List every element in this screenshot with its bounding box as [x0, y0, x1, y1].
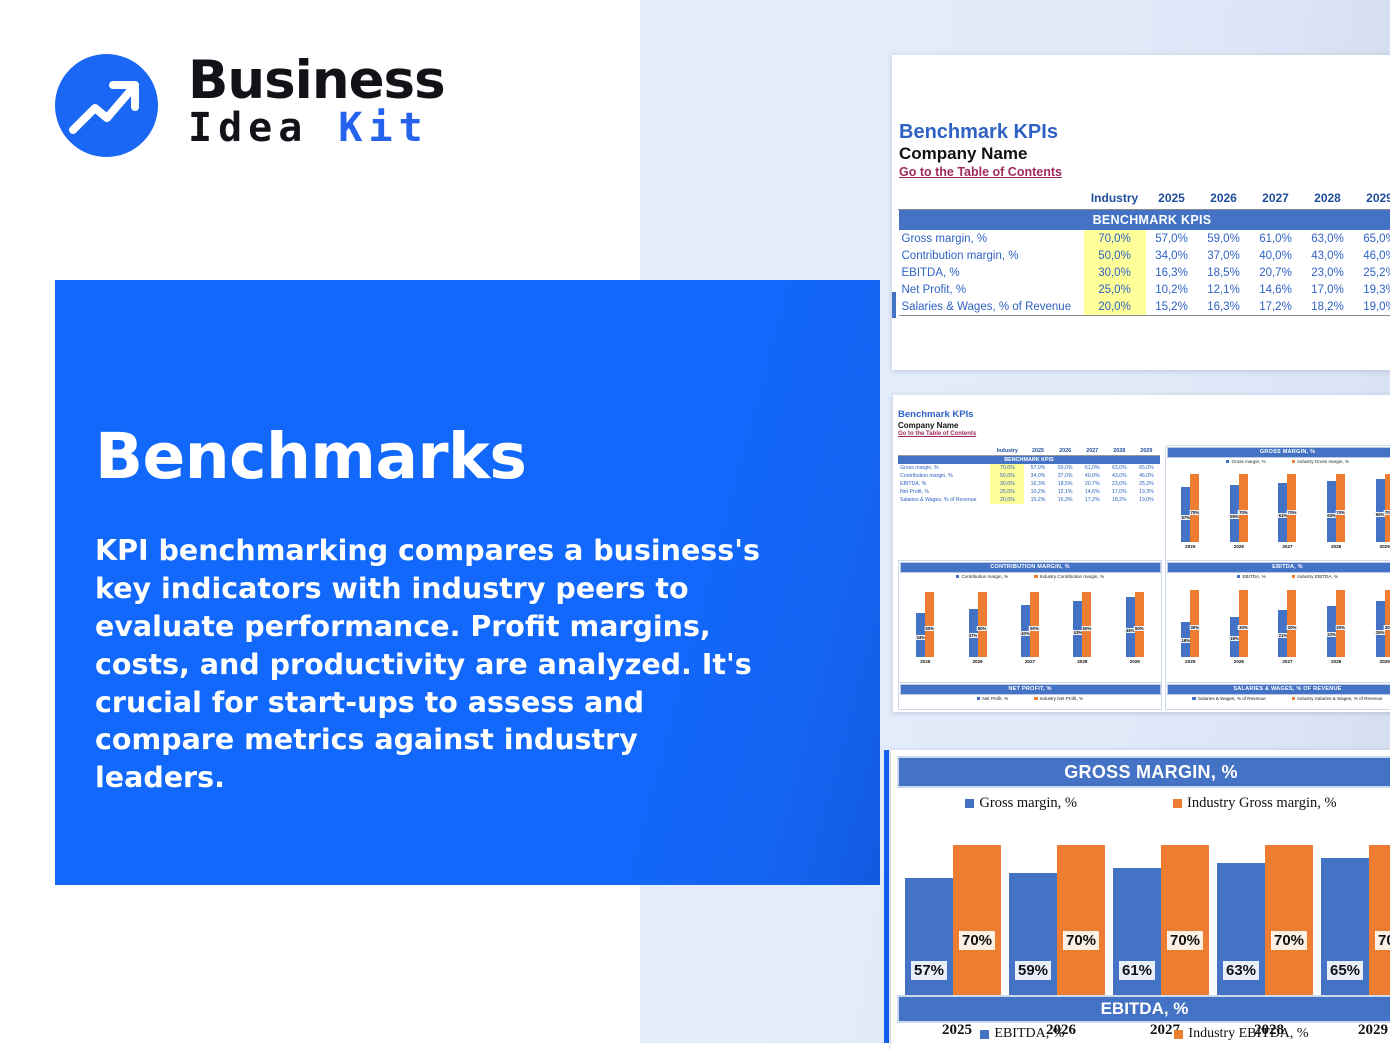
- mini-chart-group: 43%50%: [1073, 579, 1091, 657]
- mini-axis-tick: 2029: [1130, 659, 1140, 664]
- mini-bar-industry: 70%: [1336, 474, 1345, 542]
- kpi-cell-2029: 25,2%: [1133, 480, 1160, 488]
- mini-kpi-col-2026: 2026: [1052, 447, 1079, 456]
- mini-bar-value: 30%: [1335, 625, 1346, 630]
- kpi-cell-2027: 40,0%: [1250, 247, 1302, 264]
- growth-arrow-icon: [55, 54, 158, 157]
- mini-bar-industry: 70%: [1385, 474, 1390, 542]
- bar-group: 57%70%: [905, 820, 1009, 1020]
- ebitda-legend-item-company: EBITDA, %: [980, 1024, 1064, 1044]
- gross-margin-chart-plot: 57%70%59%70%61%70%63%70%65%70%: [905, 820, 1390, 1020]
- mini-axis-tick: 2026: [972, 659, 982, 664]
- table-row: Salaries & Wages, % of Revenue20,0%15,2%…: [898, 496, 1160, 504]
- kpi-cell-2027: 17,2%: [1250, 298, 1302, 316]
- hero-panel: Benchmarks KPI benchmarking compares a b…: [55, 280, 880, 885]
- table-row: EBITDA, %30,0%16,3%18,5%20,7%23,0%25,2%: [898, 480, 1160, 488]
- kpi-table-body: Gross margin, %70,0%57,0%59,0%61,0%63,0%…: [899, 230, 1390, 316]
- kpi-cell-2028: 18,2%: [1106, 496, 1133, 504]
- mini-kpi-table-wrapper: BENCHMARK KPIS Industry 2025 2026 2027 2…: [898, 447, 1160, 504]
- mini-chart-group: 57%70%: [1181, 464, 1199, 542]
- mini-chart-group: 25%30%: [1376, 579, 1390, 657]
- mini-bar-industry: 50%: [1030, 592, 1039, 657]
- hero-description: KPI benchmarking compares a business's k…: [95, 532, 760, 797]
- kpi-cell-2025: 34,0%: [1024, 472, 1051, 480]
- mini-axis-tick: 2025: [1185, 659, 1195, 664]
- mini-legend-item: Net Profit, %: [977, 696, 1008, 701]
- mini-legend-item: Industry Net Profit, %: [1034, 696, 1083, 701]
- kpi-table-band-title: BENCHMARK KPIS: [899, 210, 1390, 231]
- mini-bar-value: 30%: [1238, 625, 1249, 630]
- ebitda-legend-item-industry: Industry EBITDA, %: [1174, 1024, 1308, 1044]
- kpi-cell-2026: 12,1%: [1052, 488, 1079, 496]
- mini-table-of-contents-link[interactable]: Go to the Table of Contents: [898, 431, 976, 437]
- mini-bar-value: 70%: [1189, 510, 1200, 515]
- mini-axis-tick: 2026: [1234, 659, 1244, 664]
- mini-kpi-col-2029: 2029: [1133, 447, 1160, 456]
- kpi-cell-2025: 16,3%: [1146, 264, 1198, 281]
- kpi-cell-industry: 70,0%: [1084, 230, 1146, 247]
- mini-chart-group: 34%50%: [916, 579, 934, 657]
- kpi-cell-2025: 34,0%: [1146, 247, 1198, 264]
- kpi-row-label: Salaries & Wages, % of Revenue: [899, 298, 1084, 316]
- mini-bar-value: 70%: [1335, 510, 1346, 515]
- kpi-row-label: Net Profit, %: [898, 488, 990, 496]
- bar-group: 59%70%: [1009, 820, 1113, 1020]
- sheet-big-left-edge: [884, 750, 889, 1043]
- kpi-cell-industry: 25,0%: [1084, 281, 1146, 298]
- kpi-cell-2026: 37,0%: [1052, 472, 1079, 480]
- legend-swatch-orange-icon: [1034, 697, 1038, 701]
- bar-value-label: 70%: [1375, 931, 1390, 950]
- kpi-cell-2026: 12,1%: [1198, 281, 1250, 298]
- mini-chart-group: 16%30%: [1181, 579, 1199, 657]
- bar-value-label: 57%: [911, 961, 947, 980]
- bar-industry: 70%: [1057, 845, 1105, 1020]
- mini-bar-company: 34%: [916, 613, 925, 657]
- kpi-row-label: Contribution margin, %: [898, 472, 990, 480]
- kpi-cell-2029: 65,0%: [1354, 230, 1390, 247]
- table-row: Net Profit, %25,0%10,2%12,1%14,6%17,0%19…: [899, 281, 1390, 298]
- legend-swatch-orange-icon: [1292, 575, 1296, 579]
- mini-kpi-head: Industry 2025 2026 2027 2028 2029: [898, 447, 1160, 456]
- table-row: Net Profit, %25,0%10,2%12,1%14,6%17,0%19…: [898, 488, 1160, 496]
- bar-value-label: 65%: [1327, 961, 1363, 980]
- legend-swatch-orange-icon: [1173, 799, 1182, 808]
- legend-label-industry: Industry Gross margin, %: [1187, 795, 1337, 812]
- kpi-cell-2026: 37,0%: [1198, 247, 1250, 264]
- mini-bar-industry: 70%: [1287, 474, 1296, 542]
- mini-chart-title: GROSS MARGIN, %: [1168, 448, 1390, 457]
- kpi-row-label: Contribution margin, %: [899, 247, 1084, 264]
- gross-margin-chart-title: GROSS MARGIN, %: [899, 758, 1390, 786]
- kpi-cell-2025: 57,0%: [1146, 230, 1198, 247]
- bar-value-label: 61%: [1119, 961, 1155, 980]
- mini-axis-tick: 2025: [920, 659, 930, 664]
- kpi-cell-2026: 59,0%: [1052, 464, 1079, 472]
- table-row: Contribution margin, %50,0%34,0%37,0%40,…: [898, 472, 1160, 480]
- mini-axis-tick: 2029: [1380, 544, 1390, 549]
- kpi-cell-2029: 65,0%: [1133, 464, 1160, 472]
- kpi-cell-2025: 16,3%: [1024, 480, 1051, 488]
- legend-swatch-blue-icon: [956, 575, 960, 579]
- mini-bar-industry: 30%: [1287, 590, 1296, 657]
- mini-sheet-header: Benchmark KPIs Company Name Go to the Ta…: [898, 409, 976, 437]
- mini-chart-plot: 34%50%37%50%40%50%43%50%46%50%: [899, 579, 1161, 657]
- mini-chart-legend: Salaries & Wages, % of RevenueIndustry S…: [1166, 695, 1390, 701]
- mini-axis-tick: 2027: [1025, 659, 1035, 664]
- kpi-cell-industry: 20,0%: [1084, 298, 1146, 316]
- kpi-cell-2026: 18,5%: [1198, 264, 1250, 281]
- mini-chart-group: 63%70%: [1327, 464, 1345, 542]
- mini-bar-industry: 50%: [925, 592, 934, 657]
- kpi-cell-2029: 46,0%: [1133, 472, 1160, 480]
- bar-industry: 70%: [953, 845, 1001, 1020]
- ebitda-legend-label-industry: Industry EBITDA, %: [1188, 1026, 1308, 1042]
- table-row: EBITDA, %30,0%16,3%18,5%20,7%23,0%25,2%: [899, 264, 1390, 281]
- kpi-cell-2029: 46,0%: [1354, 247, 1390, 264]
- bar-group: 61%70%: [1113, 820, 1217, 1020]
- mini-axis-tick: 2027: [1282, 544, 1292, 549]
- kpi-row-label: EBITDA, %: [899, 264, 1084, 281]
- kpi-row-label: Gross margin, %: [898, 464, 990, 472]
- bar-value-label: 59%: [1015, 961, 1051, 980]
- mini-chart-group: 21%30%: [1278, 579, 1296, 657]
- kpi-cell-2028: 17,0%: [1302, 281, 1354, 298]
- kpi-row-label: Net Profit, %: [899, 281, 1084, 298]
- legend-swatch-blue-icon: [1237, 575, 1241, 579]
- kpi-cell-2029: 19,3%: [1133, 488, 1160, 496]
- kpi-cell-2028: 43,0%: [1302, 247, 1354, 264]
- mini-legend-item: Salaries & Wages, % of Revenue: [1192, 696, 1265, 701]
- mini-bar-industry: 70%: [1239, 474, 1248, 542]
- ebitda-legend-swatch-orange-icon: [1174, 1030, 1183, 1039]
- mini-sheet-title: Benchmark KPIs: [898, 409, 976, 420]
- mini-chart-group: 59%70%: [1230, 464, 1248, 542]
- mini-bar-value: 50%: [1134, 626, 1145, 631]
- kpi-row-label: EBITDA, %: [898, 480, 990, 488]
- page-title: Benchmarks: [95, 420, 526, 493]
- mini-kpi-col-2025: 2025: [1024, 447, 1051, 456]
- kpi-cell-2025: 57,0%: [1024, 464, 1051, 472]
- kpi-cell-2029: 19,0%: [1133, 496, 1160, 504]
- bar-industry: 70%: [1369, 845, 1390, 1020]
- kpi-cell-2026: 59,0%: [1198, 230, 1250, 247]
- mini-chart-title: SALARIES & WAGES, % OF REVENUE: [1168, 685, 1390, 694]
- mini-bar-value: 30%: [1287, 625, 1298, 630]
- mini-legend-item: Industry Salaries & Wages, % of Revenue: [1292, 696, 1383, 701]
- mini-kpi-band-title: BENCHMARK KPIS: [898, 456, 1160, 465]
- sheet-title: Benchmark KPIs: [899, 121, 1058, 144]
- bar-group: 65%70%: [1321, 820, 1390, 1020]
- kpi-cell-industry: 25,0%: [990, 488, 1024, 496]
- mini-chart-title: NET PROFIT, %: [901, 685, 1160, 694]
- brand-logo: Business Idea Kit: [55, 52, 455, 162]
- legend-swatch-blue-icon: [1226, 460, 1230, 464]
- mini-bar-industry: 70%: [1190, 474, 1199, 542]
- kpi-cell-2025: 10,2%: [1024, 488, 1051, 496]
- legend-swatch-orange-icon: [1292, 697, 1296, 701]
- kpi-table-band-row: BENCHMARK KPIS: [899, 210, 1390, 231]
- kpi-col-2029: 2029: [1354, 188, 1390, 210]
- kpi-table-header-row: Industry 2025 2026 2027 2028 2029: [899, 188, 1390, 210]
- kpi-cell-2029: 25,2%: [1354, 264, 1390, 281]
- mini-axis-tick: 2025: [1185, 544, 1195, 549]
- legend-label-company: Gross margin, %: [979, 795, 1077, 812]
- kpi-cell-2028: 23,0%: [1106, 480, 1133, 488]
- mini-kpi-table: BENCHMARK KPIS Industry 2025 2026 2027 2…: [898, 447, 1160, 504]
- mini-bar-industry: 50%: [978, 592, 987, 657]
- table-row: Gross margin, %70,0%57,0%59,0%61,0%63,0%…: [898, 464, 1160, 472]
- mini-chart-net-profit[interactable]: NET PROFIT, %Net Profit, %Industry Net P…: [898, 682, 1162, 710]
- table-row: Gross margin, %70,0%57,0%59,0%61,0%63,0%…: [899, 230, 1390, 247]
- kpi-cell-2028: 18,2%: [1302, 298, 1354, 316]
- mini-bar-company: 23%: [1327, 606, 1336, 657]
- kpi-col-2028: 2028: [1302, 188, 1354, 210]
- kpi-sheet-mid[interactable]: Benchmark KPIs Company Name Go to the Ta…: [893, 395, 1390, 712]
- kpi-cell-industry: 70,0%: [990, 464, 1024, 472]
- mini-bar-value: 50%: [1082, 626, 1093, 631]
- bar-company: 65%: [1321, 858, 1369, 1021]
- legend-swatch-orange-icon: [1034, 575, 1038, 579]
- mini-chart-group: 46%50%: [1126, 579, 1144, 657]
- mini-kpi-col-blank: [898, 447, 990, 456]
- legend-swatch-blue-icon: [965, 799, 974, 808]
- mini-axis-tick: 2029: [1380, 659, 1390, 664]
- mini-bar-value: 70%: [1238, 510, 1249, 515]
- mini-axis-tick: 2028: [1331, 544, 1341, 549]
- ebitda-legend-swatch-blue-icon: [980, 1030, 989, 1039]
- table-of-contents-link[interactable]: Go to the Table of Contents: [899, 165, 1062, 179]
- mini-chart-group: 40%50%: [1021, 579, 1039, 657]
- mini-chart-xaxis: 20252026202720282029: [1166, 542, 1390, 549]
- kpi-col-2027: 2027: [1250, 188, 1302, 210]
- mini-kpi-body: Gross margin, %70,0%57,0%59,0%61,0%63,0%…: [898, 464, 1160, 504]
- kpi-cell-2026: 16,3%: [1052, 496, 1079, 504]
- sheet-left-accent: [892, 292, 896, 318]
- kpi-cell-2026: 16,3%: [1198, 298, 1250, 316]
- mini-chart-group: 65%70%: [1376, 464, 1390, 542]
- mini-axis-tick: 2028: [1331, 659, 1341, 664]
- kpi-cell-2027: 14,6%: [1079, 488, 1106, 496]
- ebitda-chart-title: EBITDA, %: [899, 997, 1390, 1021]
- mini-chart-gross-margin[interactable]: GROSS MARGIN, %Gross margin, %Industry G…: [1165, 445, 1390, 577]
- legend-swatch-orange-icon: [1292, 460, 1296, 464]
- kpi-cell-2027: 61,0%: [1250, 230, 1302, 247]
- kpi-cell-2026: 18,5%: [1052, 480, 1079, 488]
- brand-name-line2-accent: Kit: [338, 105, 428, 151]
- mini-chart-salaries-wages[interactable]: SALARIES & WAGES, % OF REVENUESalaries &…: [1165, 682, 1390, 710]
- bar-value-label: 70%: [1271, 931, 1307, 950]
- mini-bar-value: 30%: [1384, 625, 1390, 630]
- mini-bar-company: 18%: [1230, 617, 1239, 657]
- mini-bar-value: 70%: [1384, 510, 1390, 515]
- mini-bar-value: 50%: [924, 626, 935, 631]
- kpi-cell-2027: 20,7%: [1250, 264, 1302, 281]
- mini-axis-tick: 2028: [1077, 659, 1087, 664]
- mini-chart-legend: Net Profit, %Industry Net Profit, %: [899, 695, 1161, 701]
- mini-bar-industry: 50%: [1135, 592, 1144, 657]
- kpi-cell-2029: 19,3%: [1354, 281, 1390, 298]
- mini-kpi-col-2028: 2028: [1106, 447, 1133, 456]
- mini-kpi-band-row: BENCHMARK KPIS: [898, 456, 1160, 465]
- kpi-table: BENCHMARK KPIS Industry 2025 2026 2027 2…: [898, 188, 1390, 316]
- bar-industry: 70%: [1265, 845, 1313, 1020]
- bar-industry: 70%: [1161, 845, 1209, 1020]
- kpi-cell-2029: 19,0%: [1354, 298, 1390, 316]
- kpi-col-2025: 2025: [1146, 188, 1198, 210]
- kpi-cell-industry: 20,0%: [990, 496, 1024, 504]
- mini-bar-industry: 30%: [1239, 590, 1248, 657]
- mini-chart-plot: 57%70%59%70%61%70%63%70%65%70%: [1166, 464, 1390, 542]
- mini-chart-group: 18%30%: [1230, 579, 1248, 657]
- bar-value-label: 70%: [1063, 931, 1099, 950]
- mini-chart-ebitda[interactable]: EBITDA, %EBITDA, %Industry EBITDA, %16%3…: [1165, 560, 1390, 692]
- mini-legend-label: Industry Net Profit, %: [1040, 696, 1083, 701]
- brand-name-line1-text: Business: [188, 50, 445, 111]
- kpi-row-label: Salaries & Wages, % of Revenue: [898, 496, 990, 504]
- mini-bar-company: 40%: [1021, 605, 1030, 657]
- mini-bar-industry: 30%: [1336, 590, 1345, 657]
- mini-chart-xaxis: 20252026202720282029: [899, 657, 1161, 664]
- brand-name-line2-dark: Idea: [188, 105, 338, 151]
- kpi-cell-2027: 17,2%: [1079, 496, 1106, 504]
- bar-value-label: 63%: [1223, 961, 1259, 980]
- kpi-cell-industry: 30,0%: [990, 480, 1024, 488]
- mini-legend-label: Industry Salaries & Wages, % of Revenue: [1297, 696, 1382, 701]
- mini-chart-title: EBITDA, %: [1168, 563, 1390, 572]
- mini-bar-value: 50%: [1029, 626, 1040, 631]
- kpi-cell-2027: 14,6%: [1250, 281, 1302, 298]
- kpi-cell-2027: 20,7%: [1079, 480, 1106, 488]
- legend-item-company: Gross margin, %: [965, 792, 1077, 814]
- mini-sheet-company-name: Company Name: [898, 421, 976, 430]
- kpi-cell-2028: 63,0%: [1302, 230, 1354, 247]
- mini-chart-plot: 16%30%18%30%21%30%23%30%25%30%: [1166, 579, 1390, 657]
- mini-axis-tick: 2026: [1234, 544, 1244, 549]
- sheet-company-name: Company Name: [899, 144, 1027, 164]
- kpi-col-industry: Industry: [1084, 188, 1146, 210]
- mini-legend-label: Net Profit, %: [982, 696, 1008, 701]
- kpi-cell-2028: 63,0%: [1106, 464, 1133, 472]
- legend-swatch-blue-icon: [1192, 697, 1196, 701]
- bar-value-label: 70%: [959, 931, 995, 950]
- kpi-col-blank: [899, 188, 1084, 210]
- kpi-row-label: Gross margin, %: [899, 230, 1084, 247]
- kpi-col-2026: 2026: [1198, 188, 1250, 210]
- kpi-cell-2025: 15,2%: [1024, 496, 1051, 504]
- mini-chart-xaxis: 20252026202720282029: [1166, 657, 1390, 664]
- kpi-cell-2028: 43,0%: [1106, 472, 1133, 480]
- kpi-cell-industry: 50,0%: [1084, 247, 1146, 264]
- mini-bar-value: 50%: [977, 626, 988, 631]
- mini-chart-title: CONTRIBUTION MARGIN, %: [901, 563, 1160, 572]
- mini-bar-value: 70%: [1287, 510, 1298, 515]
- mini-bar-industry: 30%: [1190, 590, 1199, 657]
- legend-swatch-blue-icon: [977, 697, 981, 701]
- bar-group: 63%70%: [1217, 820, 1321, 1020]
- mini-bar-value: 30%: [1189, 625, 1200, 630]
- bar-value-label: 70%: [1167, 931, 1203, 950]
- mini-bar-company: 37%: [969, 609, 978, 657]
- kpi-cell-2027: 40,0%: [1079, 472, 1106, 480]
- mini-bar-industry: 30%: [1385, 590, 1390, 657]
- brand-name-line1: Business: [188, 54, 445, 107]
- kpi-cell-industry: 30,0%: [1084, 264, 1146, 281]
- kpi-cell-2028: 17,0%: [1106, 488, 1133, 496]
- mini-bar-company: 21%: [1278, 610, 1287, 657]
- kpi-cell-2027: 61,0%: [1079, 464, 1106, 472]
- kpi-cell-industry: 50,0%: [990, 472, 1024, 480]
- table-row: Salaries & Wages, % of Revenue20,0%15,2%…: [899, 298, 1390, 316]
- kpi-table-wrapper: BENCHMARK KPIS Industry 2025 2026 2027 2…: [898, 188, 1390, 316]
- ebitda-legend-label-company: EBITDA, %: [994, 1026, 1064, 1042]
- brand-name-line2: Idea Kit: [188, 108, 429, 148]
- kpi-sheet-top[interactable]: Benchmark KPIs Company Name Go to the Ta…: [892, 55, 1390, 370]
- kpi-cell-2025: 10,2%: [1146, 281, 1198, 298]
- mini-chart-group: 61%70%: [1278, 464, 1296, 542]
- kpi-cell-2028: 23,0%: [1302, 264, 1354, 281]
- gross-margin-chart-legend: Gross margin, % Industry Gross margin, %: [891, 792, 1390, 814]
- kpi-cell-2025: 15,2%: [1146, 298, 1198, 316]
- ebitda-chart-legend: EBITDA, % Industry EBITDA, %: [899, 1024, 1390, 1044]
- legend-item-industry: Industry Gross margin, %: [1173, 792, 1337, 814]
- mini-chart-group: 23%30%: [1327, 579, 1345, 657]
- table-row: Contribution margin, %50,0%34,0%37,0%40,…: [899, 247, 1390, 264]
- mini-legend-label: Salaries & Wages, % of Revenue: [1198, 696, 1266, 701]
- mini-bar-industry: 50%: [1082, 592, 1091, 657]
- mini-kpi-col-industry: Industry: [990, 447, 1024, 456]
- kpi-table-head: Industry 2025 2026 2027 2028 2029: [899, 188, 1390, 210]
- mini-kpi-header-row: Industry 2025 2026 2027 2028 2029: [898, 447, 1160, 456]
- mini-kpi-col-2027: 2027: [1079, 447, 1106, 456]
- mini-axis-tick: 2027: [1282, 659, 1292, 664]
- mini-chart-contribution-margin[interactable]: CONTRIBUTION MARGIN, %Contribution margi…: [898, 560, 1162, 692]
- mini-chart-group: 37%50%: [969, 579, 987, 657]
